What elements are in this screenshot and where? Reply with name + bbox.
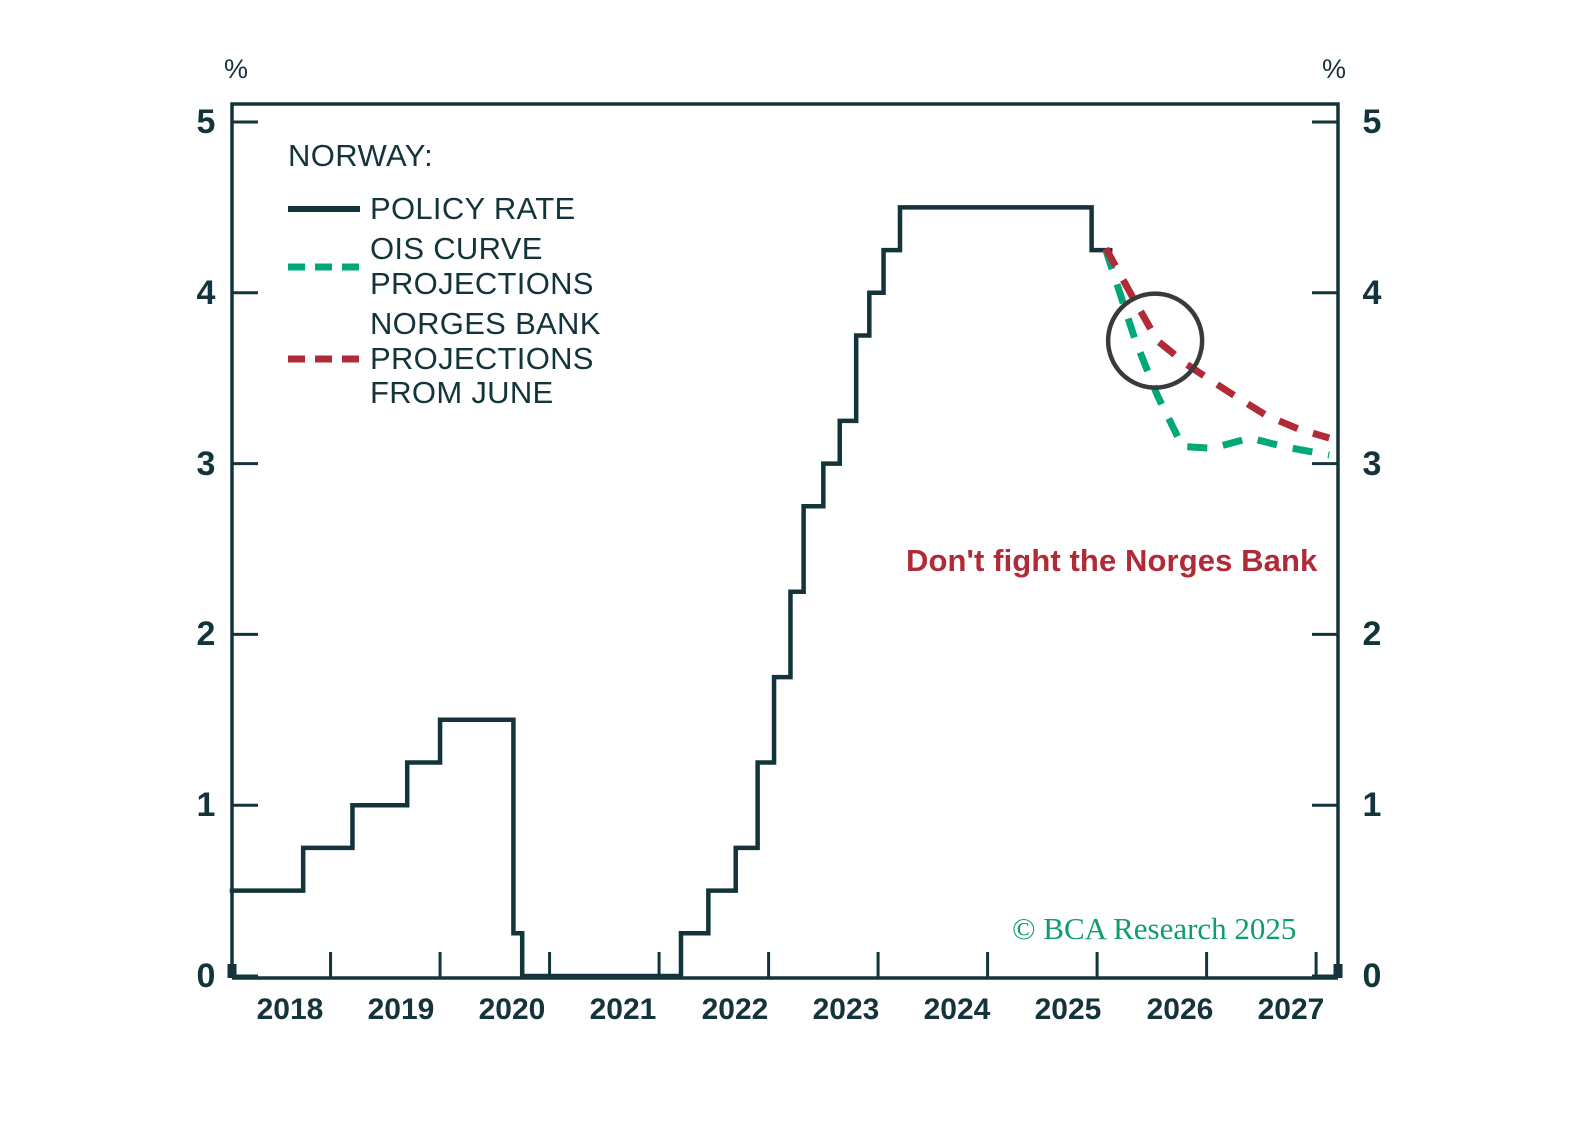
x-axis-tick-2018: 2018 <box>230 993 350 1027</box>
y-axis-tick-right-4: 4 <box>1352 274 1392 313</box>
legend-swatch-solid-line-icon <box>288 194 360 224</box>
y-axis-tick-left-5: 5 <box>186 103 226 142</box>
chart-container: % % 5 4 3 2 1 0 5 4 3 2 1 0 2018 2019 20… <box>0 0 1588 1144</box>
y-axis-tick-right-0: 0 <box>1352 957 1392 996</box>
legend-item-norges-bank: NORGES BANK PROJECTIONS FROM JUNE <box>288 307 718 410</box>
y-axis-tick-left-4: 4 <box>186 274 226 313</box>
legend-item-policy-rate: POLICY RATE <box>288 192 718 226</box>
y-axis-tick-right-1: 1 <box>1352 786 1392 825</box>
right-axis-unit-label: % <box>1322 54 1346 85</box>
x-axis-tick-2020: 2020 <box>452 993 572 1027</box>
legend-swatch-dashed-green-line-icon <box>288 252 360 282</box>
chart-annotation-text: Don't fight the Norges Bank <box>906 543 1317 579</box>
x-axis-tick-2019: 2019 <box>341 993 461 1027</box>
y-axis-tick-left-1: 1 <box>186 786 226 825</box>
legend-item-ois-curve: OIS CURVE PROJECTIONS <box>288 232 718 301</box>
y-axis-tick-right-5: 5 <box>1352 103 1392 142</box>
chart-legend: NORWAY: POLICY RATE OIS CURVE PROJECTION… <box>288 138 718 416</box>
x-axis-tick-2022: 2022 <box>675 993 795 1027</box>
left-axis-unit-label: % <box>224 54 248 85</box>
legend-title: NORWAY: <box>288 138 718 174</box>
x-axis-tick-2027: 2027 <box>1231 993 1351 1027</box>
copyright-notice: © BCΑ Research 2025 <box>1012 911 1296 947</box>
y-axis-tick-left-3: 3 <box>186 445 226 484</box>
x-axis-tick-2023: 2023 <box>786 993 906 1027</box>
y-axis-tick-left-2: 2 <box>186 615 226 654</box>
x-axis-tick-2024: 2024 <box>897 993 1017 1027</box>
x-axis-tick-2026: 2026 <box>1120 993 1240 1027</box>
legend-label-norges-bank: NORGES BANK PROJECTIONS FROM JUNE <box>370 307 601 410</box>
chart-plot-area <box>0 0 1588 1144</box>
x-axis-tick-2025: 2025 <box>1008 993 1128 1027</box>
y-axis-tick-right-3: 3 <box>1352 445 1392 484</box>
legend-label-ois-curve: OIS CURVE PROJECTIONS <box>370 232 594 301</box>
legend-swatch-dashed-red-line-icon <box>288 344 360 374</box>
y-axis-tick-left-0: 0 <box>186 957 226 996</box>
y-axis-tick-right-2: 2 <box>1352 615 1392 654</box>
x-axis-tick-2021: 2021 <box>563 993 683 1027</box>
legend-label-policy-rate: POLICY RATE <box>370 192 575 226</box>
